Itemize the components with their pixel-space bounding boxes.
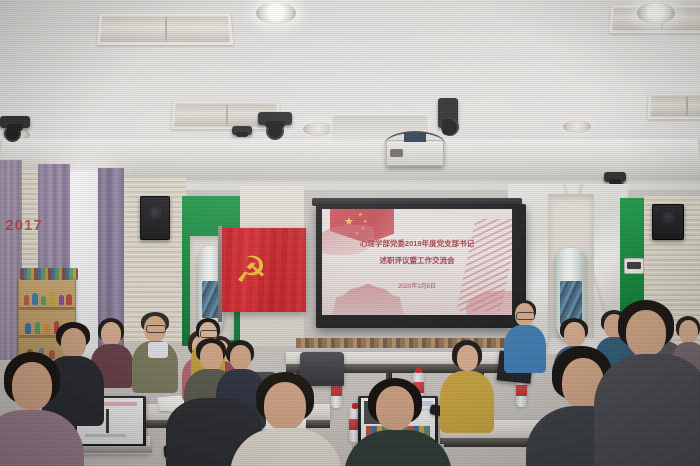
- wall-control-panel-icon[interactable]: [624, 258, 644, 274]
- downlight-icon: [563, 120, 591, 133]
- air-vent-icon: [647, 93, 700, 120]
- projector-icon: [386, 140, 444, 166]
- camera-icon: [438, 98, 458, 128]
- photo-scene: 2017 ★ ★ ★: [0, 0, 700, 466]
- camera-icon: [0, 116, 30, 128]
- slide-date: 2020年1月8日: [322, 281, 512, 290]
- slide-title-line1: 心理学部党委2019年度党支部书记: [322, 238, 512, 249]
- downlight-icon: [256, 2, 296, 24]
- camera-icon: [258, 112, 292, 125]
- downlight-icon: [637, 2, 675, 24]
- camera-icon: [604, 172, 626, 182]
- wall-year-sign: 2017: [4, 218, 44, 233]
- projection-screen-frame: ★ ★ ★ ★ ★ 心理学部党委2019年度党支部书记 述职评议暨工作交流会 2…: [316, 204, 526, 328]
- flag-icon: ☭: [222, 228, 306, 312]
- air-vent-icon: [97, 14, 234, 46]
- projection-screen: ★ ★ ★ ★ ★ 心理学部党委2019年度党支部书记 述职评议暨工作交流会 2…: [322, 209, 512, 315]
- bookshelf-top-trinkets: [20, 268, 78, 280]
- speaker-icon: [140, 196, 170, 240]
- hammer-sickle-emblem: ☭: [235, 252, 267, 288]
- flag-pole-shadow: [218, 226, 222, 322]
- slide-title-line2: 述职评议暨工作交流会: [322, 255, 512, 266]
- camera-icon: [232, 126, 252, 135]
- speaker-icon: [652, 204, 684, 240]
